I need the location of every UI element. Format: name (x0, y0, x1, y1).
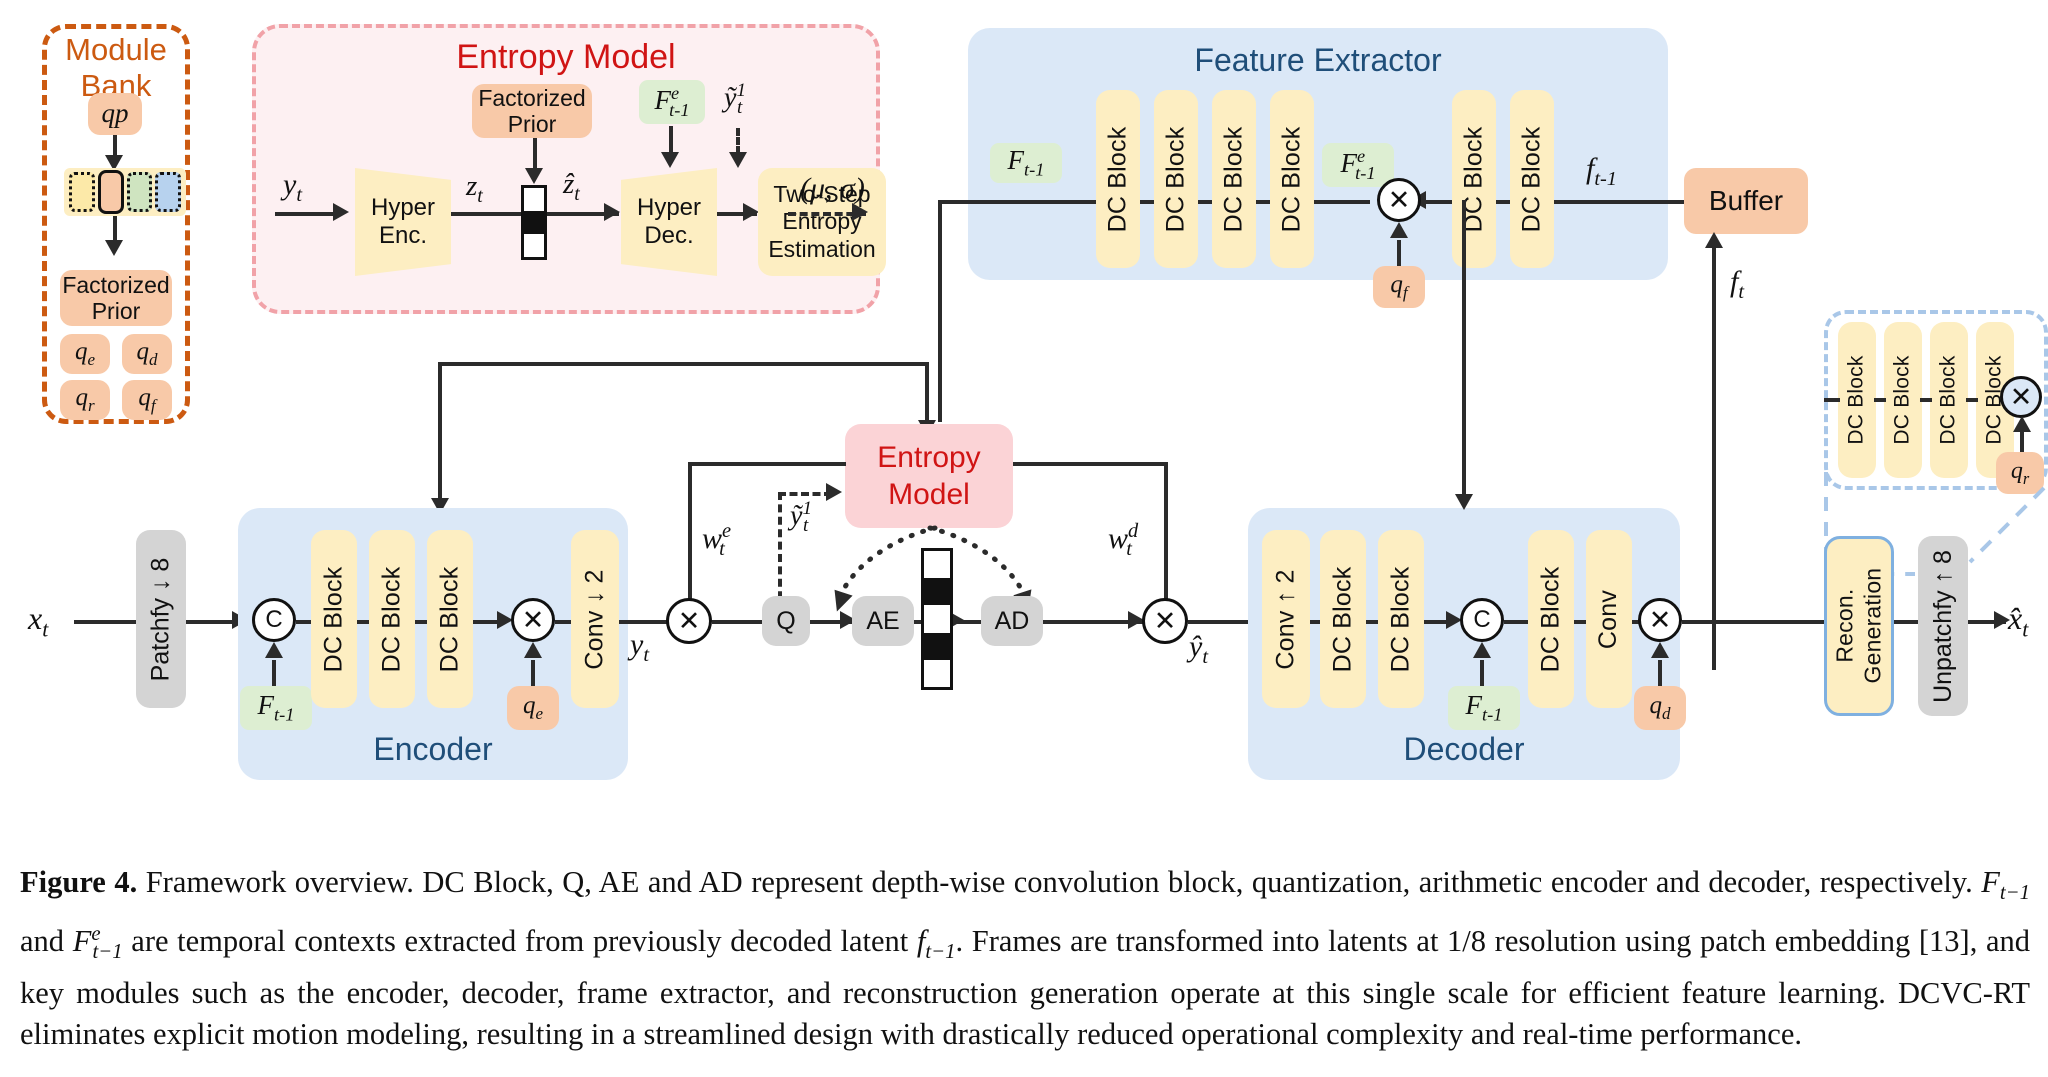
f-t-label: ft (1730, 265, 1744, 304)
decoder-dc-block-3[interactable]: DC Block (1528, 530, 1574, 708)
wd-multiply-icon[interactable]: ✕ (1142, 598, 1188, 644)
ytilde-mid-arrow (826, 483, 842, 501)
entropy-context-fe-label: Fet-1 (654, 83, 689, 120)
entropy-feed-line (438, 362, 442, 506)
bank-q-e-label: qe (75, 338, 95, 370)
fe-dc-block-6-label: DC Block (1518, 126, 1547, 232)
fe-q-f-label: qf (1390, 271, 1407, 303)
encoder-context-tag: Ft-1 (240, 686, 312, 730)
decoder-dc-block-2-label: DC Block (1387, 566, 1416, 672)
mul-to-decoder-line (1188, 620, 1250, 624)
selector-to-prior-arrow (105, 240, 123, 256)
ytilde-dashed-line (736, 128, 740, 154)
decoder-q-d-block[interactable]: qd (1634, 686, 1686, 730)
recon-generation-block[interactable]: Recon. Generation (1824, 536, 1894, 716)
bit-5 (924, 660, 950, 687)
middle-entropy-model-block[interactable]: Entropy Model (845, 424, 1013, 528)
wd-top-line (1013, 462, 1168, 466)
encoder-conv-down-block[interactable]: Conv ↓ 2 (571, 530, 619, 708)
mu-sigma-label: (μ, σ) (800, 172, 865, 206)
encoder-qe-arrow (524, 642, 542, 658)
arithmetic-decoder-block[interactable]: AD (981, 596, 1043, 646)
fe-input-tag-label: Ft-1 (1008, 145, 1045, 180)
mul-to-q-line (712, 620, 762, 624)
decoder-qd-arrow (1651, 642, 1669, 658)
decoder-qd-line (1658, 660, 1662, 688)
arithmetic-encoder-block[interactable]: AE (852, 596, 914, 646)
bit-1 (924, 551, 950, 578)
entropy-ytilde-label: ỹ1t (724, 80, 742, 119)
ft-line (1712, 240, 1716, 670)
entropy-prior-line2: Prior (508, 111, 557, 137)
encoder-dc-block-1[interactable]: DC Block (311, 530, 357, 708)
wd-down-line (1164, 462, 1168, 620)
bit-w2 (524, 234, 544, 257)
hyper-bitstream-icon (521, 185, 547, 260)
z-label: zt (466, 170, 483, 208)
decoder-dc-block-1[interactable]: DC Block (1320, 530, 1366, 708)
decoder-conv-label: Conv (1595, 589, 1624, 648)
bank-q-e[interactable]: qe (60, 334, 110, 374)
fe-q-f-block[interactable]: qf (1373, 266, 1425, 308)
fe-left-branch-down (938, 200, 942, 422)
entropy-input-label: yt (283, 168, 302, 207)
middle-entropy-line1: Entropy (877, 439, 980, 477)
bit-2 (924, 578, 950, 605)
fe-qf-line (1397, 240, 1401, 268)
entropy-input-arrow (333, 203, 349, 221)
bank-q-f[interactable]: qf (122, 380, 172, 420)
hyper-enc-line2: Enc. (371, 222, 435, 250)
recon-dc-block-1[interactable]: DC Block (1838, 322, 1876, 478)
decoder-conv-block[interactable]: Conv (1586, 530, 1632, 708)
encoder-dc-block-3-label: DC Block (436, 566, 465, 672)
wd-label: wdt (1108, 520, 1132, 561)
bank-prior-line1: Factorized (62, 272, 169, 298)
hyper-dec-line1: Hyper (637, 194, 701, 222)
decoder-conv-up-label: Conv ↑ 2 (1272, 569, 1301, 669)
fe-buffer-line (1554, 200, 1684, 204)
bank-q-d-label: qd (137, 338, 158, 370)
entropy-feed-down-mid (925, 362, 929, 424)
fe-dc-block-3-label: DC Block (1220, 126, 1249, 232)
recon-multiply-icon[interactable]: ✕ (2000, 376, 2042, 418)
encoder-concat-icon[interactable]: C (252, 598, 296, 642)
feature-extractor-title: Feature Extractor (968, 42, 1668, 79)
z-hat-label: ẑt (563, 168, 580, 206)
entropy-model-panel-title: Entropy Model (252, 38, 880, 77)
hyper-decoder-block[interactable]: Hyper Dec. (621, 168, 717, 276)
decoder-ctx-arrow (1473, 642, 1491, 658)
recon-group-line-3 (1920, 398, 1932, 402)
figure-canvas: Module Bank qp Factorized Prior qe qd qr… (0, 0, 2048, 1077)
selector-to-prior-line (113, 216, 117, 242)
swatch-selected[interactable] (98, 170, 124, 214)
encoder-title: Encoder (238, 731, 628, 768)
swatch-blue[interactable] (155, 172, 181, 212)
decoder-q-d-label: qd (1650, 692, 1671, 724)
zhat-arrow (604, 203, 620, 221)
hyper-encoder-block[interactable]: Hyper Enc. (355, 168, 451, 276)
decoder-context-tag: Ft-1 (1448, 686, 1520, 730)
f-prev-label: ft-1 (1586, 152, 1617, 191)
ft-arrow (1705, 232, 1723, 248)
swatch-green[interactable] (127, 172, 153, 212)
bank-q-f-label: qf (138, 384, 155, 416)
fe-output-tag-label: Fet-1 (1340, 146, 1375, 183)
decoder-dc-block-1-label: DC Block (1329, 566, 1358, 672)
decoder-concat-icon[interactable]: C (1460, 598, 1504, 642)
decoder-out-line (1682, 620, 1824, 624)
ytilde-arrow (729, 152, 747, 168)
bank-q-r[interactable]: qr (60, 380, 110, 420)
bit-3 (924, 605, 950, 632)
fe-to-decoder-vline (1462, 200, 1466, 498)
bank-q-r-label: qr (75, 384, 94, 416)
encoder-ctx-arrow (265, 642, 283, 658)
recon-dc-block-3[interactable]: DC Block (1930, 322, 1968, 478)
recon-generation-line1: Recon. (1831, 589, 1857, 663)
fe-dc-block-3[interactable]: DC Block (1212, 90, 1256, 268)
encoder-conv-down-label: Conv ↓ 2 (581, 569, 610, 669)
buffer-block[interactable]: Buffer (1684, 168, 1808, 234)
bit-b1 (524, 211, 544, 234)
quantization-block[interactable]: Q (762, 596, 810, 646)
encoder-q-e-label: qe (523, 692, 543, 724)
fe-multiply-icon[interactable]: ✕ (1377, 178, 1421, 222)
bank-factorized-prior[interactable]: Factorized Prior (60, 270, 172, 326)
decoder-multiply-icon[interactable]: ✕ (1638, 598, 1682, 642)
encoder-ctx-line (272, 660, 276, 688)
mu-sigma-arrow (852, 203, 868, 221)
decoder-title: Decoder (1248, 731, 1680, 768)
fe-dc-block-4[interactable]: DC Block (1270, 90, 1314, 268)
we-top-line (688, 462, 846, 466)
we-down-line (688, 462, 692, 620)
patchify-label: Patchfy ↓ 8 (147, 557, 176, 681)
fe-to-twostep-line (669, 126, 673, 154)
encoder-dc-block-3[interactable]: DC Block (427, 530, 473, 708)
fe-qf-arrow (1390, 222, 1408, 238)
qp-to-selector-line (113, 135, 117, 157)
encoder-input-label: xt (28, 600, 48, 642)
patchify-block[interactable]: Patchfy ↓ 8 (136, 530, 186, 708)
prior-to-bits-arrow (525, 168, 543, 184)
we-label: wet (702, 520, 725, 561)
fe-dc-block-1-label: DC Block (1104, 126, 1133, 232)
encoder-qe-line (531, 660, 535, 688)
encoder-multiply-icon[interactable]: ✕ (511, 598, 555, 642)
fe-dc-block-2-label: DC Block (1162, 126, 1191, 232)
bank-q-d[interactable]: qd (122, 334, 172, 374)
unpatchify-block[interactable]: Unpatchfy ↑ 8 (1918, 536, 1968, 716)
decoder-dc-block-3-label: DC Block (1537, 566, 1566, 672)
arithmetic-decoder-label: AD (995, 607, 1030, 636)
decoder-context-label: Ft-1 (1466, 690, 1503, 725)
figure-caption-label: Figure 4. (20, 865, 137, 899)
encoder-input-line (74, 620, 136, 624)
bitstream-icon (921, 548, 953, 690)
entropy-context-fe-tag: Fet-1 (639, 80, 705, 124)
fe-to-decoder-arrow (1455, 494, 1473, 510)
recon-group-line-2 (1874, 398, 1886, 402)
bit-4 (924, 633, 950, 660)
encoder-output-label: yt (630, 628, 649, 667)
recon-generation-line2: Generation (1859, 568, 1885, 684)
recon-to-unpatch-line (1894, 620, 1920, 624)
fe-output-tag: Fet-1 (1322, 143, 1394, 187)
decoder-line-d (1504, 620, 1530, 624)
entropy-feed-top (438, 362, 928, 366)
encoder-q-e-block[interactable]: qe (507, 686, 559, 730)
figure-caption-text: Framework overview. DC Block, Q, AE and … (20, 865, 2030, 1051)
entropy-input-line (275, 212, 335, 216)
recon-output-label: x̂t (2008, 600, 2028, 642)
entropy-prior-line1: Factorized (478, 85, 585, 111)
hyper-dec-line2: Dec. (637, 222, 701, 250)
decoder-ctx-line (1480, 660, 1484, 688)
entropy-factorized-prior[interactable]: Factorized Prior (472, 84, 592, 138)
fe-dc-block-5[interactable]: DC Block (1452, 90, 1496, 268)
encoder-dc-block-1-label: DC Block (320, 566, 349, 672)
fe-dc-block-6[interactable]: DC Block (1510, 90, 1554, 268)
fe-input-tag: Ft-1 (990, 143, 1062, 183)
fe-dc-block-1[interactable]: DC Block (1096, 90, 1140, 268)
encoder-dc-block-2-label: DC Block (378, 566, 407, 672)
fe-to-twostep-arrow (661, 152, 679, 168)
bit-w1 (524, 188, 544, 211)
qp-block[interactable]: qp (88, 93, 142, 135)
hyper-enc-line1: Hyper (371, 194, 435, 222)
ytilde-mid-hline (778, 492, 832, 496)
swatch-yellow[interactable] (69, 172, 95, 212)
encoder-line-b (357, 620, 369, 624)
figure-caption: Figure 4. Framework overview. DC Block, … (20, 862, 2030, 1055)
module-bank-title-line1: Module (46, 32, 186, 68)
unpatchify-label: Unpatchfy ↑ 8 (1929, 550, 1958, 703)
recon-dc-block-3-label: DC Block (1937, 355, 1961, 444)
decoder-conv-up-block[interactable]: Conv ↑ 2 (1262, 530, 1310, 708)
y-hat-label: ŷt (1189, 630, 1208, 669)
quantization-label: Q (776, 607, 795, 636)
arithmetic-encoder-label: AE (866, 607, 899, 636)
encoder-context-label: Ft-1 (258, 690, 295, 725)
recon-dc-block-1-label: DC Block (1845, 355, 1869, 444)
encoder-dc-block-2[interactable]: DC Block (369, 530, 415, 708)
fe-dc-block-2[interactable]: DC Block (1154, 90, 1198, 268)
z-line (451, 212, 521, 216)
recon-qr-arrow (2013, 416, 2031, 432)
prior-to-bits-line (533, 138, 537, 170)
fe-dc-block-4-label: DC Block (1278, 126, 1307, 232)
we-multiply-icon[interactable]: ✕ (666, 598, 712, 644)
recon-dc-block-2-label: DC Block (1891, 355, 1915, 444)
bank-prior-line2: Prior (92, 298, 141, 324)
recon-group-line-1 (1824, 398, 1840, 402)
feature-extractor-panel: Feature Extractor (968, 28, 1668, 280)
decoder-dc-block-2[interactable]: DC Block (1378, 530, 1424, 708)
recon-group-line-4 (1966, 398, 1978, 402)
two-step-line3: Estimation (768, 236, 875, 263)
hyperdec-to-twostep-arrow (743, 203, 759, 221)
encoder-line-c (415, 620, 427, 624)
middle-entropy-line2: Model (877, 476, 980, 514)
module-selector-row[interactable] (64, 168, 186, 216)
recon-dc-block-2[interactable]: DC Block (1884, 322, 1922, 478)
